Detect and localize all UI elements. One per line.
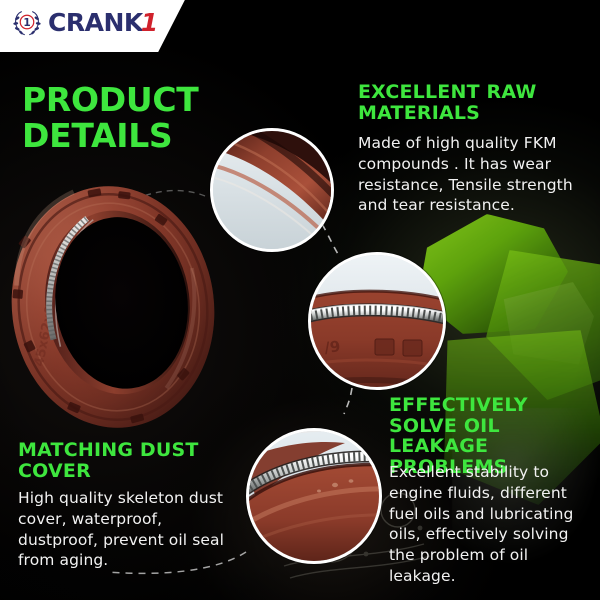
- feature-heading-raw-materials: EXCELLENT RAW MATERIALS: [358, 82, 590, 123]
- brand-wordmark: CRANK1: [48, 10, 158, 35]
- feature-body-dust-cover: High quality skeleton dust cover, waterp…: [18, 488, 233, 571]
- brand-name-main: CRANK: [48, 10, 143, 35]
- brand-name-accent: 1: [141, 10, 158, 35]
- laurel-wreath-icon: 1: [12, 7, 42, 37]
- svg-text:1: 1: [23, 17, 30, 29]
- feature-heading-dust-cover: MATCHING DUST COVER: [18, 440, 238, 481]
- page-title-line2: DETAILS: [22, 118, 198, 154]
- feature-body-oil-leakage: Excellent stability to engine fluids, di…: [389, 462, 594, 587]
- product-oil-seal: 45x62x9: [0, 170, 234, 444]
- product-details-infographic: 45x62x9: [0, 0, 600, 600]
- callout-spring-detail: /9: [308, 252, 446, 390]
- page-title-line1: PRODUCT: [22, 82, 198, 118]
- svg-text:/9: /9: [323, 337, 341, 357]
- callout-edge-detail: [210, 128, 334, 252]
- brand-logo[interactable]: 1 CRANK1: [12, 7, 158, 37]
- callout-lip-detail: [246, 428, 382, 564]
- feature-body-raw-materials: Made of high quality FKM compounds . It …: [358, 133, 594, 216]
- page-title: PRODUCT DETAILS: [22, 82, 198, 153]
